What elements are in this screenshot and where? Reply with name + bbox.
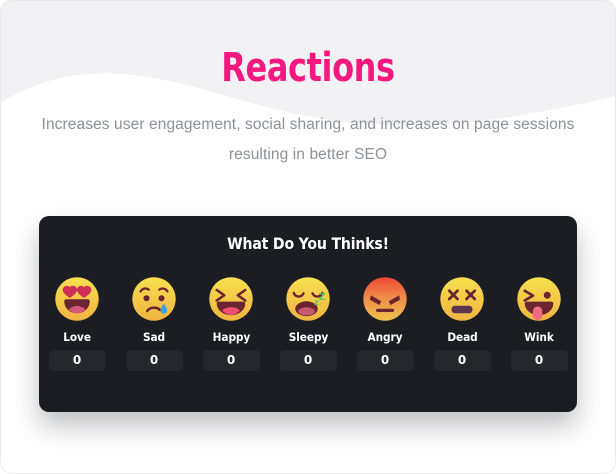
- reaction-label: Happy: [212, 330, 250, 344]
- dead-emoji[interactable]: [438, 275, 486, 323]
- wink-emoji[interactable]: [515, 275, 563, 323]
- reactions-feature-card: Reactions Increases user engagement, soc…: [0, 0, 616, 474]
- reaction-label: Angry: [368, 330, 403, 344]
- sad-emoji[interactable]: [130, 275, 178, 323]
- reaction-label: Love: [63, 330, 91, 344]
- reaction-count[interactable]: 0: [280, 350, 337, 371]
- reactions-row: Love 0: [39, 275, 577, 371]
- sleepy-emoji[interactable]: z Z: [284, 275, 332, 323]
- reaction-count[interactable]: 0: [434, 350, 491, 371]
- reaction-count[interactable]: 0: [357, 350, 414, 371]
- reaction-count[interactable]: 0: [126, 350, 183, 371]
- reaction-count[interactable]: 0: [203, 350, 260, 371]
- reaction-item-happy[interactable]: Happy 0: [203, 275, 260, 371]
- svg-text:Z: Z: [319, 292, 326, 303]
- reaction-label: Dead: [447, 330, 477, 344]
- page-header: Reactions Increases user engagement, soc…: [0, 0, 616, 170]
- reaction-item-dead[interactable]: Dead 0: [434, 275, 491, 371]
- reaction-label: Sad: [143, 330, 165, 344]
- page-subtitle: Increases user engagement, social sharin…: [38, 110, 578, 170]
- reaction-count[interactable]: 0: [511, 350, 568, 371]
- page-title: Reactions: [62, 46, 555, 90]
- reaction-label: Wink: [524, 330, 553, 344]
- reaction-count[interactable]: 0: [49, 350, 106, 371]
- happy-emoji[interactable]: [207, 275, 255, 323]
- reaction-item-sleepy[interactable]: z Z Sleepy 0: [280, 275, 337, 371]
- reaction-item-wink[interactable]: Wink 0: [511, 275, 568, 371]
- reaction-label: Sleepy: [288, 330, 328, 344]
- reaction-item-angry[interactable]: Angry 0: [357, 275, 414, 371]
- love-emoji[interactable]: [53, 275, 101, 323]
- panel-title: What Do You Thinks!: [71, 216, 544, 253]
- reaction-item-love[interactable]: Love 0: [49, 275, 106, 371]
- reaction-item-sad[interactable]: Sad 0: [126, 275, 183, 371]
- angry-emoji[interactable]: [361, 275, 409, 323]
- reactions-panel: What Do You Thinks! Love 0: [39, 216, 577, 412]
